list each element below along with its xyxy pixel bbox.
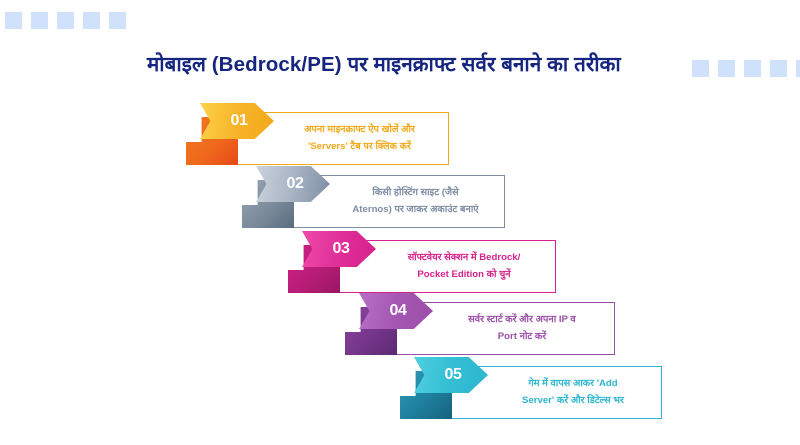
step-number-label: 01: [227, 112, 248, 131]
steps-container: अपना माइनक्राफ्ट ऐप खोलें और 'Servers' ट…: [0, 0, 800, 445]
step-description: सर्वर स्टार्ट करें और अपना IP व Port नोट…: [468, 312, 575, 345]
step-description: गेम में वापस आकर 'Add Server' करें और डि…: [522, 376, 624, 409]
step-number-label: 05: [441, 366, 462, 385]
step-number-label: 03: [329, 240, 350, 259]
step-number-label: 04: [386, 302, 407, 321]
step-description: सॉफ्टवेयर सेक्शन में Bedrock/ Pocket Edi…: [408, 250, 521, 283]
step-number-label: 02: [283, 175, 304, 194]
step-description: किसी होस्टिंग साइट (जैसे Aternos) पर जाक…: [352, 185, 478, 218]
step-description: अपना माइनक्राफ्ट ऐप खोलें और 'Servers' ट…: [304, 122, 415, 155]
